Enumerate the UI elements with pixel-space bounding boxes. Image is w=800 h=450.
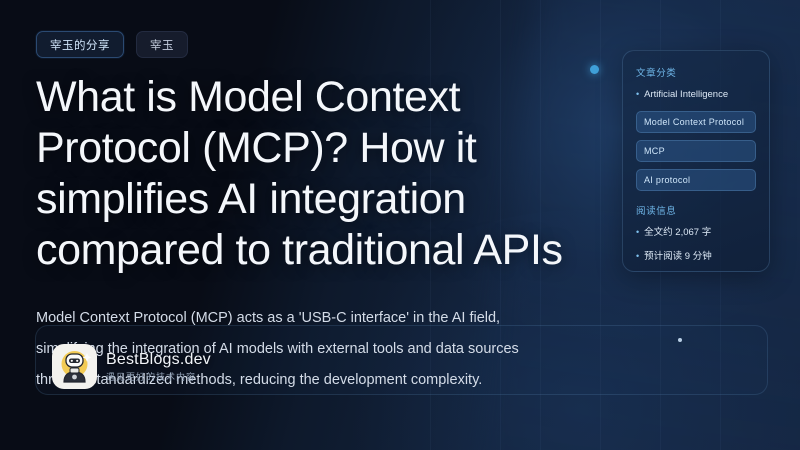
brand-watermark: BestBlogs.dev 遇见更好的技术内容 bbox=[52, 344, 211, 389]
topic-chip-mcp-full[interactable]: Model Context Protocol bbox=[636, 111, 756, 133]
reading-heading: 阅读信息 bbox=[636, 203, 756, 217]
bullet-icon: • bbox=[636, 250, 639, 263]
reading-time: • 预计阅读 9 分钟 bbox=[636, 250, 756, 264]
brand-text-block: BestBlogs.dev 遇见更好的技术内容 bbox=[106, 351, 211, 383]
category-list-item: • Artificial Intelligence bbox=[636, 88, 756, 102]
reading-word-count: • 全文约 2,067 字 bbox=[636, 226, 756, 240]
slide-canvas: 宰玉的分享 宰玉 What is Model Context Protocol … bbox=[0, 0, 800, 450]
article-title: What is Model Context Protocol (MCP)? Ho… bbox=[36, 72, 596, 277]
brand-name: BestBlogs.dev bbox=[106, 351, 211, 369]
category-heading: 文章分类 bbox=[636, 65, 756, 79]
bullet-icon: • bbox=[636, 226, 639, 239]
reading-time-label: 预计阅读 9 分钟 bbox=[644, 250, 712, 264]
brand-tagline: 遇见更好的技术内容 bbox=[106, 370, 211, 383]
category-label: Artificial Intelligence bbox=[644, 88, 728, 102]
header-tag-bar: 宰玉的分享 宰玉 bbox=[36, 31, 188, 58]
robot-avatar-icon bbox=[52, 344, 97, 389]
header-tag-channel[interactable]: 宰玉的分享 bbox=[36, 31, 124, 58]
bullet-icon: • bbox=[636, 88, 639, 101]
article-info-card: 文章分类 • Artificial Intelligence Model Con… bbox=[622, 50, 770, 272]
lower-panel-dot-icon bbox=[678, 338, 682, 342]
header-tag-author[interactable]: 宰玉 bbox=[136, 31, 188, 58]
topic-chip-mcp[interactable]: MCP bbox=[636, 140, 756, 162]
word-count-label: 全文约 2,067 字 bbox=[644, 226, 711, 240]
topic-chip-ai-protocol[interactable]: AI protocol bbox=[636, 169, 756, 191]
